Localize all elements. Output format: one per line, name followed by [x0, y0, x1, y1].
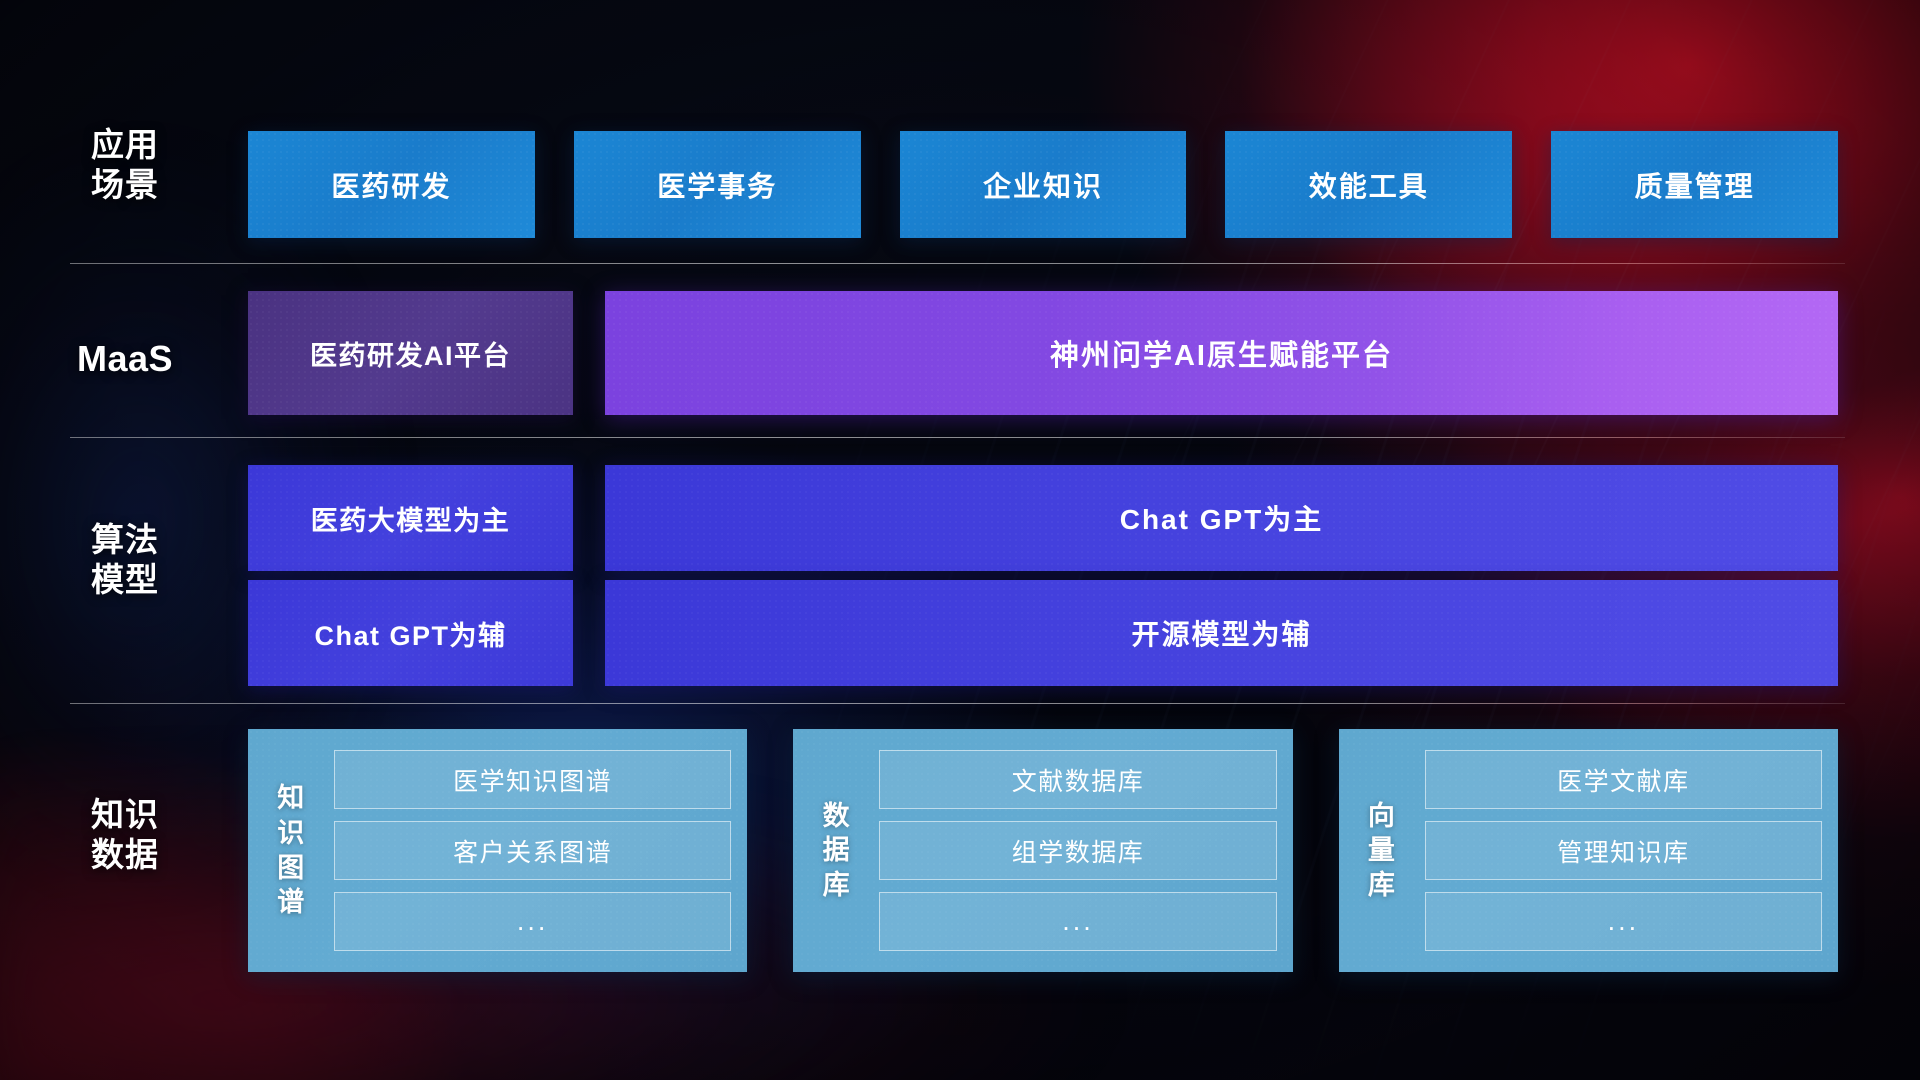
divider-after-algorithm-models — [70, 703, 1845, 704]
algo-card-label: Chat GPT为辅 — [314, 614, 506, 653]
tier-label-line: 算法 — [40, 520, 210, 560]
knowledge-item-medical-knowledge-graph[interactable]: 医学知识图谱 — [334, 750, 731, 809]
tier-label-line: 应用 — [40, 125, 210, 165]
algo-card-chatgpt-secondary[interactable]: Chat GPT为辅 — [248, 580, 573, 686]
tier-label-line: MaaS — [40, 337, 210, 381]
app-card-quality-management[interactable]: 质量管理 — [1551, 131, 1838, 238]
app-card-label: 企业知识 — [983, 165, 1103, 205]
tier-label-application-scenarios: 应用 场景 — [40, 125, 210, 206]
app-card-label: 医药研发 — [331, 165, 451, 205]
algo-card-label: Chat GPT为主 — [1120, 498, 1324, 538]
panel-title-char: 图 — [277, 851, 305, 886]
knowledge-item-label: ... — [517, 906, 549, 937]
app-card-medicine-rd[interactable]: 医药研发 — [248, 131, 535, 238]
algo-card-label: 医药大模型为主 — [311, 499, 511, 538]
maas-card-label: 神州问学AI原生赋能平台 — [1050, 332, 1393, 374]
maas-card-label: 医药研发AI平台 — [310, 334, 511, 373]
algo-card-pharma-llm-primary[interactable]: 医药大模型为主 — [248, 465, 573, 571]
knowledge-panel-items: 医学知识图谱 客户关系图谱 ... — [334, 743, 731, 958]
algo-card-chatgpt-primary[interactable]: Chat GPT为主 — [605, 465, 1838, 571]
knowledge-item-omics-database[interactable]: 组学数据库 — [879, 821, 1276, 880]
slide-canvas: 应用 场景 医药研发 医学事务 企业知识 效能工具 质量管理 MaaS — [0, 0, 1920, 1080]
panel-title-char: 数 — [823, 799, 851, 834]
knowledge-item-medical-literature-store[interactable]: 医学文献库 — [1425, 750, 1822, 809]
tier-label-line: 知识 — [40, 795, 210, 835]
panel-title-char: 向 — [1368, 799, 1396, 834]
algo-card-opensource-secondary[interactable]: 开源模型为辅 — [605, 580, 1838, 686]
knowledge-item-label: 客户关系图谱 — [453, 833, 612, 869]
knowledge-item-management-knowledge-store[interactable]: 管理知识库 — [1425, 821, 1822, 880]
maas-card-pharma-ai-platform[interactable]: 医药研发AI平台 — [248, 291, 573, 415]
knowledge-item-label: 组学数据库 — [1012, 833, 1145, 869]
application-scenario-cards: 医药研发 医学事务 企业知识 效能工具 质量管理 — [248, 131, 1838, 238]
algorithm-model-row-secondary: Chat GPT为辅 开源模型为辅 — [248, 580, 1838, 686]
knowledge-data-panels: 知 识 图 谱 医学知识图谱 客户关系图谱 ... — [248, 729, 1838, 972]
tier-label-knowledge-data: 知识 数据 — [40, 795, 210, 876]
divider-after-maas — [70, 437, 1845, 438]
panel-title-char: 知 — [277, 781, 305, 816]
app-card-efficiency-tools[interactable]: 效能工具 — [1225, 131, 1512, 238]
knowledge-item-literature-database[interactable]: 文献数据库 — [879, 750, 1276, 809]
panel-title-char: 库 — [823, 868, 851, 903]
divider-after-application-scenarios — [70, 263, 1845, 264]
app-card-label: 医学事务 — [657, 165, 777, 205]
tier-label-line: 模型 — [40, 560, 210, 600]
tier-label-line: 数据 — [40, 835, 210, 875]
app-card-label: 质量管理 — [1635, 165, 1755, 205]
knowledge-panel-items: 文献数据库 组学数据库 ... — [879, 743, 1276, 958]
knowledge-item-label: 管理知识库 — [1557, 833, 1690, 869]
app-card-label: 效能工具 — [1309, 165, 1429, 205]
knowledge-panel-title-database: 数 据 库 — [803, 743, 869, 958]
knowledge-panel-database: 数 据 库 文献数据库 组学数据库 ... — [793, 729, 1292, 972]
knowledge-panel-title-vector-store: 向 量 库 — [1349, 743, 1415, 958]
knowledge-panel-knowledge-graph: 知 识 图 谱 医学知识图谱 客户关系图谱 ... — [248, 729, 747, 972]
algorithm-model-row-primary: 医药大模型为主 Chat GPT为主 — [248, 465, 1838, 571]
maas-layer: 医药研发AI平台 神州问学AI原生赋能平台 — [248, 291, 1838, 415]
knowledge-item-more[interactable]: ... — [334, 892, 731, 951]
panel-title-char: 谱 — [277, 885, 305, 920]
knowledge-item-label: 医学文献库 — [1557, 762, 1690, 798]
panel-title-char: 库 — [1368, 868, 1396, 903]
panel-title-char: 据 — [823, 833, 851, 868]
tier-label-line: 场景 — [40, 165, 210, 205]
knowledge-item-customer-relation-graph[interactable]: 客户关系图谱 — [334, 821, 731, 880]
knowledge-item-label: 文献数据库 — [1012, 762, 1145, 798]
panel-title-char: 量 — [1368, 833, 1396, 868]
knowledge-item-label: 医学知识图谱 — [453, 762, 612, 798]
knowledge-panel-items: 医学文献库 管理知识库 ... — [1425, 743, 1822, 958]
architecture-stack: 应用 场景 医药研发 医学事务 企业知识 效能工具 质量管理 MaaS — [0, 0, 1920, 1080]
knowledge-panel-vector-store: 向 量 库 医学文献库 管理知识库 ... — [1339, 729, 1838, 972]
knowledge-item-label: ... — [1608, 906, 1640, 937]
tier-label-algorithm-models: 算法 模型 — [40, 520, 210, 601]
app-card-enterprise-knowledge[interactable]: 企业知识 — [900, 131, 1187, 238]
algo-card-label: 开源模型为辅 — [1131, 613, 1311, 653]
app-card-medical-affairs[interactable]: 医学事务 — [574, 131, 861, 238]
knowledge-panel-title-knowledge-graph: 知 识 图 谱 — [258, 743, 324, 958]
maas-card-shenzhou-wenxue-platform[interactable]: 神州问学AI原生赋能平台 — [605, 291, 1838, 415]
knowledge-item-more[interactable]: ... — [879, 892, 1276, 951]
knowledge-item-label: ... — [1062, 906, 1094, 937]
tier-label-maas: MaaS — [40, 337, 210, 381]
algorithm-model-layer: 医药大模型为主 Chat GPT为主 Chat GPT为辅 开源模型为辅 — [248, 465, 1838, 685]
knowledge-item-more[interactable]: ... — [1425, 892, 1822, 951]
panel-title-char: 识 — [277, 816, 305, 851]
